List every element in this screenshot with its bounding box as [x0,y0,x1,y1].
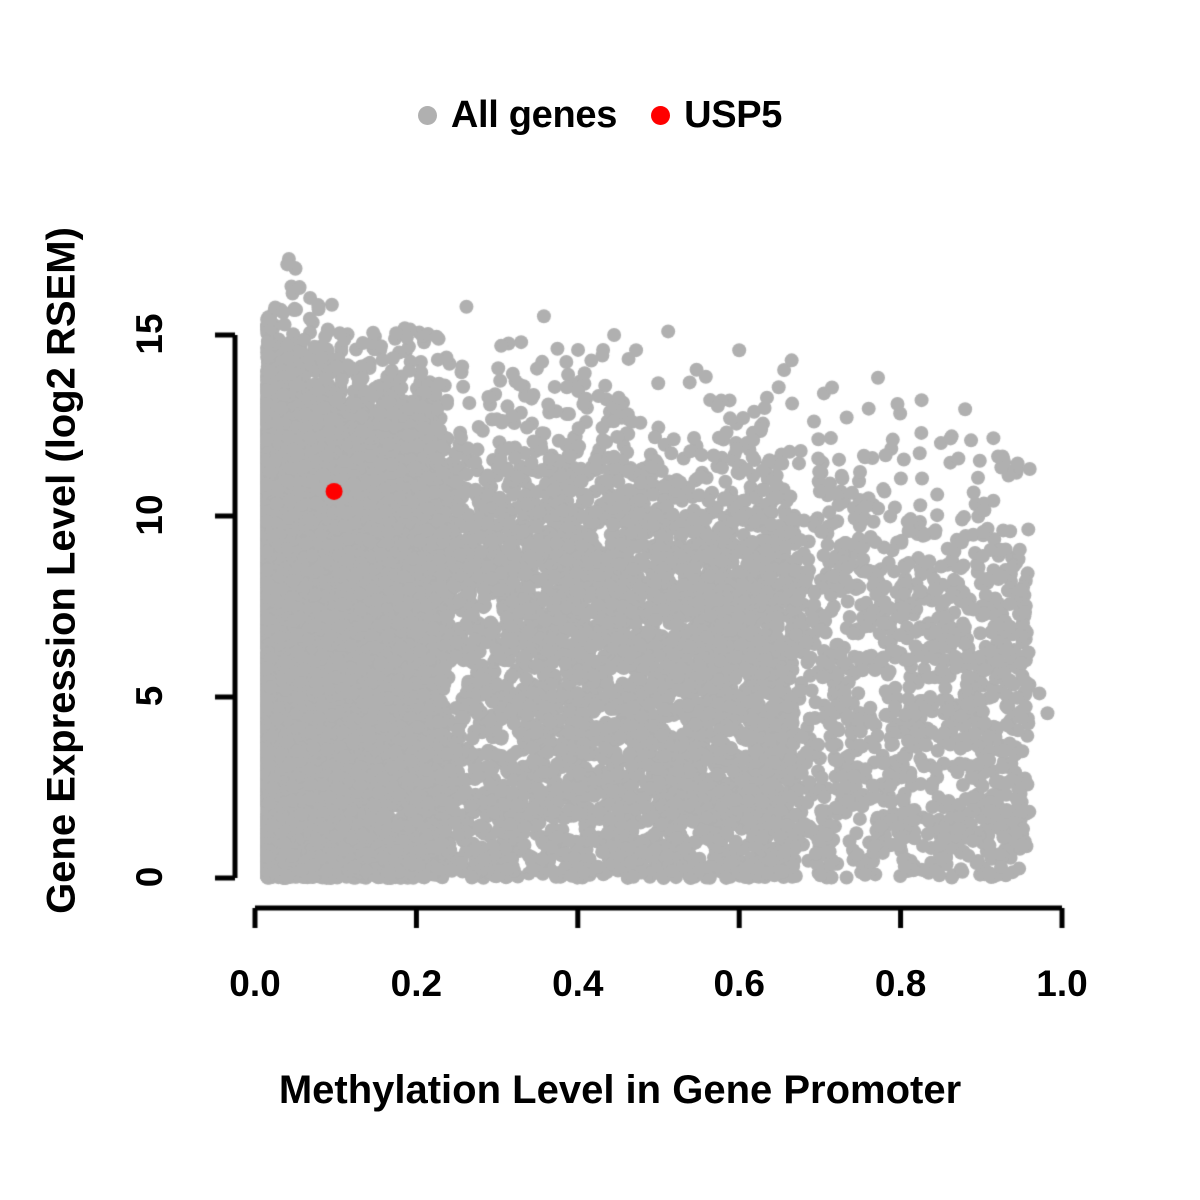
x-axis-title: Methylation Level in Gene Promoter [120,1068,1120,1113]
y-tick-label-5: 5 [129,651,171,741]
x-tick-label-0-2: 0.2 [356,963,476,1005]
scatter-points-canvas [0,0,1200,1200]
x-tick-label-0-6: 0.6 [679,963,799,1005]
y-tick-label-15: 15 [129,289,171,379]
x-tick-label-0-0: 0.0 [195,963,315,1005]
x-tick-label-0-8: 0.8 [841,963,961,1005]
scatter-plot-figure: All genes USP5 0 5 10 15 0.0 0.2 0.4 0.6… [0,0,1200,1200]
y-tick-label-0: 0 [129,832,171,922]
y-axis-title: Gene Expression Level (log2 RSEM) [40,161,85,981]
x-tick-label-1-0: 1.0 [1002,963,1122,1005]
x-tick-label-0-4: 0.4 [518,963,638,1005]
plot-canvas-area [0,0,1200,1200]
y-tick-label-10: 10 [129,470,171,560]
